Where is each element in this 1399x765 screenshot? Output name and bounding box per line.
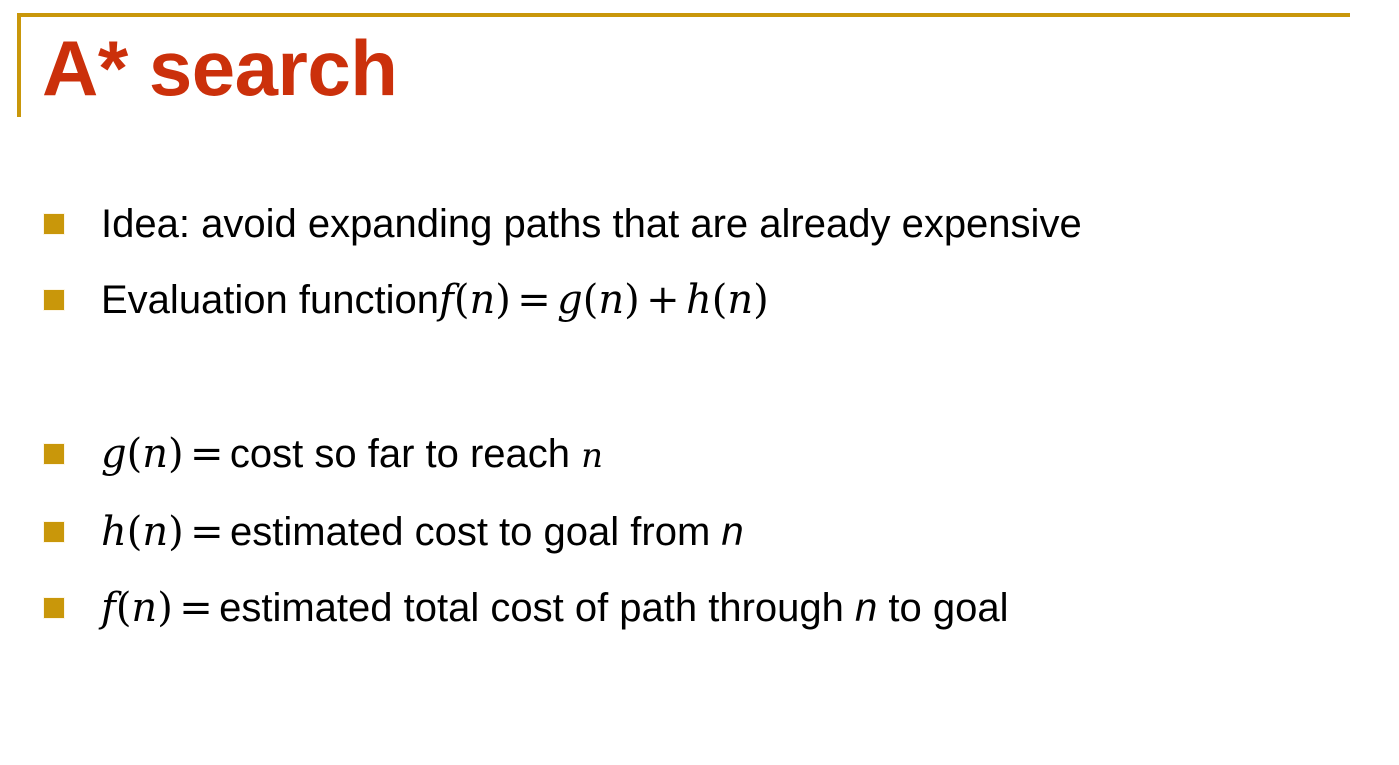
math-close-paren: ): [168, 509, 184, 555]
math-var-g: g: [557, 277, 583, 323]
math-var-n-inline: n: [581, 436, 603, 476]
title-left-rule: [17, 13, 21, 117]
math-var-n-inline: n: [855, 586, 877, 630]
math-plus-sign: +: [640, 277, 686, 323]
math-var-g: g: [101, 431, 127, 477]
list-item-h-of-n: h(n)=estimated cost to goal from n: [0, 504, 1399, 560]
list-item-text: Evaluation functionf(n)=g(n)+h(n): [101, 272, 769, 328]
math-var-f: f: [101, 585, 116, 631]
math-equals-sign: =: [173, 585, 219, 631]
math-open-paren: (: [454, 277, 470, 323]
math-var-h: h: [101, 509, 127, 555]
list-item-evaluation-function: Evaluation functionf(n)=g(n)+h(n): [0, 272, 1399, 328]
math-var-n: n: [142, 431, 168, 477]
math-expression-f-equals-g-plus-h: f(n)=g(n)+h(n): [439, 277, 769, 323]
math-var-n: n: [142, 509, 168, 555]
math-expression-f-equals: f(n)=: [101, 585, 219, 631]
bullet-list: Idea: avoid expanding paths that are alr…: [0, 196, 1399, 636]
math-close-paren: ): [624, 277, 640, 323]
math-close-paren: ): [157, 585, 173, 631]
list-item-f-of-n: f(n)=estimated total cost of path throug…: [0, 580, 1399, 636]
list-item-text: f(n)=estimated total cost of path throug…: [101, 580, 1009, 636]
math-var-n: n: [598, 277, 624, 323]
math-var-n: n: [131, 585, 157, 631]
slide-canvas: A* search Idea: avoid expanding paths th…: [0, 0, 1399, 765]
math-var-n-inline: n: [721, 510, 743, 554]
list-item-text: h(n)=estimated cost to goal from n: [101, 504, 744, 560]
list-item-g-of-n: g(n)=cost so far to reach n: [0, 426, 1399, 484]
bullet-square-icon: [44, 214, 64, 234]
bullet-square-icon: [44, 290, 64, 310]
list-item-tail: estimated cost to goal from: [230, 510, 710, 554]
page-title: A* search: [42, 22, 397, 114]
math-var-h: h: [686, 277, 712, 323]
math-open-paren: (: [127, 509, 143, 555]
bullet-square-icon: [44, 522, 64, 542]
math-close-paren: ): [753, 277, 769, 323]
math-open-paren: (: [127, 431, 143, 477]
list-item-idea: Idea: avoid expanding paths that are alr…: [0, 196, 1399, 252]
math-equals-sign: =: [184, 509, 230, 555]
math-close-paren: ): [495, 277, 511, 323]
math-close-paren: ): [168, 431, 184, 477]
math-open-paren: (: [583, 277, 599, 323]
math-var-n: n: [469, 277, 495, 323]
math-var-f: f: [439, 277, 454, 323]
math-var-n: n: [727, 277, 753, 323]
list-item-tail-b: to goal: [888, 586, 1008, 630]
list-item-text: g(n)=cost so far to reach n: [101, 426, 603, 484]
math-expression-h-equals: h(n)=: [101, 509, 230, 555]
list-item-lead: Idea: avoid expanding paths that are alr…: [101, 202, 1082, 246]
list-item-text: Idea: avoid expanding paths that are alr…: [101, 196, 1082, 252]
math-equals-sign: =: [511, 277, 557, 323]
title-top-rule: [17, 13, 1350, 17]
list-item-tail: cost so far to reach: [230, 432, 570, 476]
math-open-paren: (: [116, 585, 132, 631]
math-equals-sign: =: [184, 431, 230, 477]
list-item-tail-a: estimated total cost of path through: [219, 586, 844, 630]
bullet-square-icon: [44, 598, 64, 618]
math-expression-g-equals: g(n)=: [101, 431, 230, 477]
math-open-paren: (: [712, 277, 728, 323]
list-item-lead: Evaluation function: [101, 278, 439, 322]
bullet-square-icon: [44, 444, 64, 464]
